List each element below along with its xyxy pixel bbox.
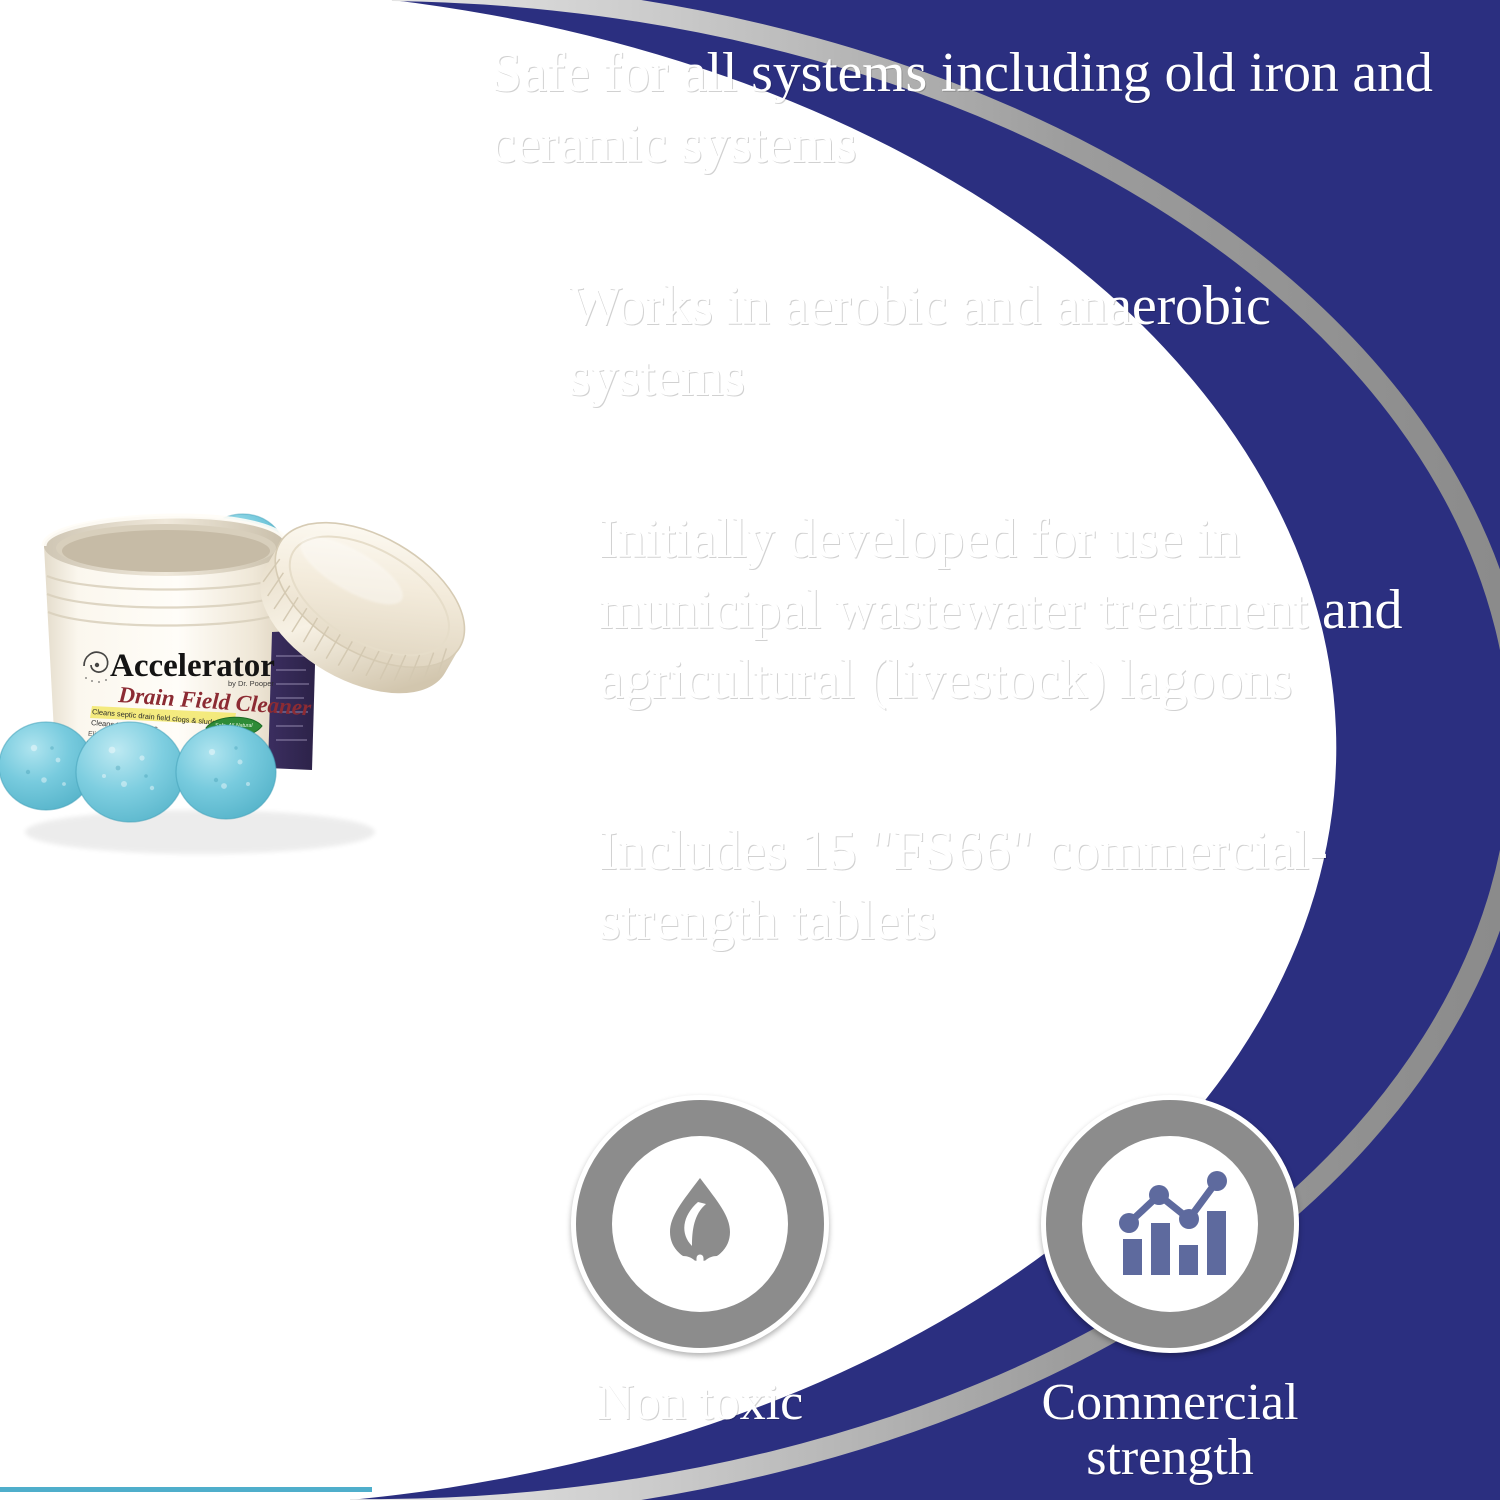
infographic-canvas: Accelerator by Dr. Pooper Drain Field Cl…	[0, 0, 1500, 1500]
bullet-dot-icon	[530, 295, 553, 318]
feature-bullet-text: Includes 15 "FS66" commercial-strength t…	[599, 816, 1440, 957]
bullet-dot-icon	[560, 528, 583, 551]
trust-badge-row: Non toxic	[560, 1095, 1480, 1495]
water-drop-in-hands-icon	[634, 1158, 766, 1290]
feature-bullet-list: Safe for all systems including old iron …	[452, 38, 1462, 957]
badge-inner-circle	[1082, 1136, 1258, 1312]
badge-commercial-strength: Commercial strength	[1030, 1095, 1310, 1495]
badge-inner-circle	[612, 1136, 788, 1312]
badge-non-toxic: Non toxic	[560, 1095, 840, 1495]
feature-bullet: Initially developed for use in municipal…	[560, 504, 1460, 716]
feature-bullet-text: Safe for all systems including old iron …	[491, 38, 1452, 179]
bar-chart-trend-icon	[1107, 1161, 1233, 1287]
feature-bullet: Includes 15 "FS66" commercial-strength t…	[560, 816, 1440, 957]
label-byline: by Dr. Pooper	[228, 679, 274, 688]
badge-disc	[571, 1095, 829, 1353]
feature-bullet: Safe for all systems including old iron …	[452, 38, 1452, 179]
bullet-dot-icon	[452, 62, 475, 85]
tablets-front	[0, 722, 276, 822]
bullet-dot-icon	[560, 840, 583, 863]
bottom-accent-rule	[0, 1487, 372, 1492]
feature-bullet-text: Initially developed for use in municipal…	[599, 504, 1460, 716]
badge-label: Commercial strength	[1030, 1375, 1310, 1485]
feature-bullet: Works in aerobic and anaerobic systems	[530, 271, 1410, 412]
badge-label: Non toxic	[560, 1375, 840, 1430]
badge-disc	[1041, 1095, 1299, 1353]
feature-bullet-text: Works in aerobic and anaerobic systems	[569, 271, 1410, 412]
